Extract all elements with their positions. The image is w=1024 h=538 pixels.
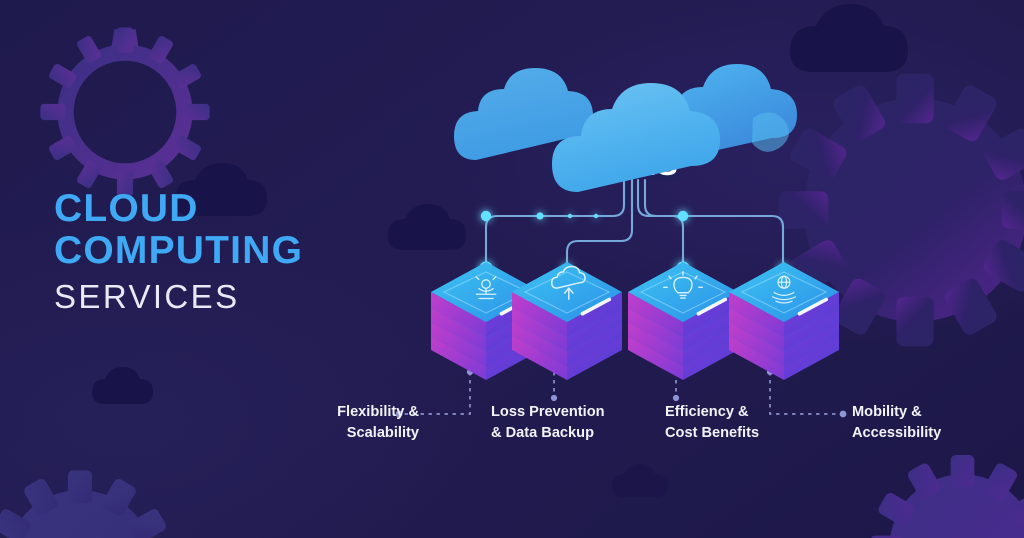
infographic-canvas: CLOUD COMPUTING SERVICES [0,0,1024,538]
service-label-flexibility: Flexibility & Scalability [224,402,419,443]
service-label-flexibility-line2: Scalability [224,423,419,444]
title-line-cloud: CLOUD [54,188,303,230]
title-line-computing: COMPUTING [54,230,303,272]
service-label-mobility-line2: Accessibility [852,423,1024,444]
service-label-efficiency: Efficiency & Cost Benefits [665,402,855,443]
title-line-services: SERVICES [54,272,303,322]
service-label-efficiency-line2: Cost Benefits [665,423,855,444]
page-title: CLOUD COMPUTING SERVICES [54,188,303,322]
service-label-loss-prevention-line2: & Data Backup [491,423,691,444]
service-label-loss-prevention: Loss Prevention & Data Backup [491,402,691,443]
service-label-loss-prevention-line1: Loss Prevention [491,402,691,423]
service-label-flexibility-line1: Flexibility & [224,402,419,423]
service-label-mobility: Mobility & Accessibility [852,402,1024,443]
server-stack-mobility[interactable] [722,258,846,376]
server-stack-loss-prevention[interactable] [505,258,629,376]
service-label-mobility-line1: Mobility & [852,402,1024,423]
service-label-efficiency-line1: Efficiency & [665,402,855,423]
